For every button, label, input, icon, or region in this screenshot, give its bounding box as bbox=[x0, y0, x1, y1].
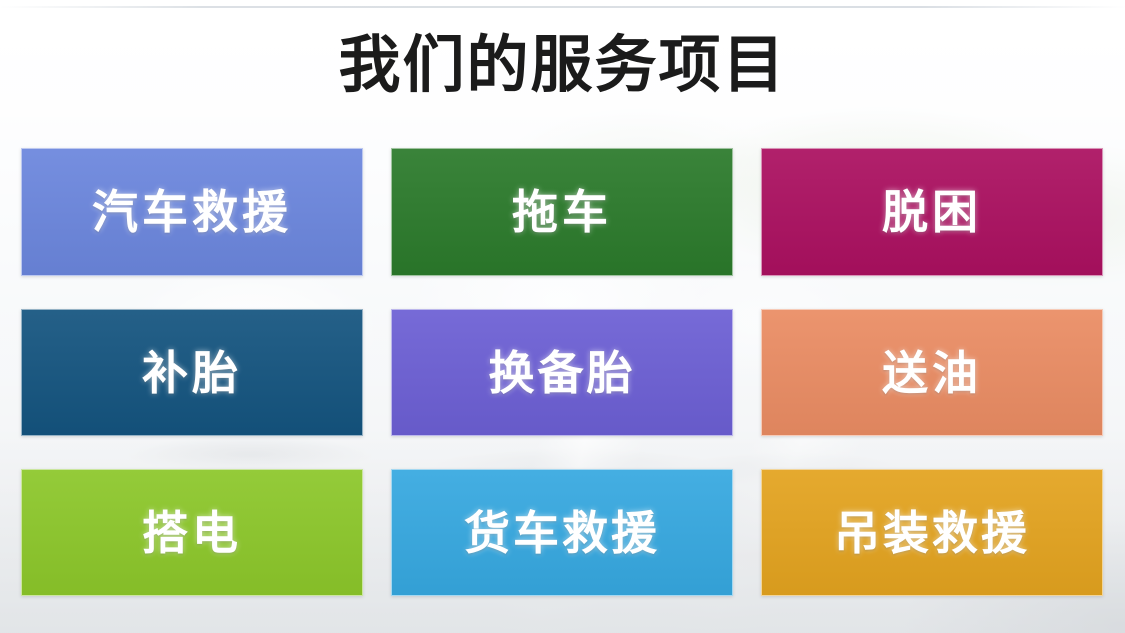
service-tile-label: 换备胎 bbox=[489, 350, 636, 396]
page-title: 我们的服务项目 bbox=[338, 35, 786, 97]
service-tile-label: 补胎 bbox=[142, 350, 242, 396]
service-tile-roadside-assistance[interactable]: 汽车救援 bbox=[21, 148, 363, 276]
background-top-hairline bbox=[0, 6, 1125, 8]
title-bar: 我们的服务项目 bbox=[0, 20, 1125, 112]
service-tile-extraction[interactable]: 脱困 bbox=[761, 148, 1103, 276]
service-tile-label: 吊装救援 bbox=[834, 510, 1030, 556]
service-tile-label: 汽车救援 bbox=[92, 189, 292, 235]
service-tile-truck-rescue[interactable]: 货车救援 bbox=[391, 469, 733, 596]
service-tile-label: 拖车 bbox=[512, 189, 612, 235]
service-tile-label: 脱困 bbox=[882, 189, 982, 235]
service-tile-label: 送油 bbox=[882, 350, 982, 396]
service-tile-towing[interactable]: 拖车 bbox=[391, 148, 733, 276]
service-poster: 我们的服务项目 汽车救援 拖车 脱困 补胎 换备胎 送油 搭电 货车救援 吊装救… bbox=[0, 0, 1125, 633]
service-tile-grid: 汽车救援 拖车 脱困 补胎 换备胎 送油 搭电 货车救援 吊装救援 bbox=[21, 148, 1104, 618]
service-tile-crane-rescue[interactable]: 吊装救援 bbox=[761, 469, 1103, 596]
service-tile-label: 货车救援 bbox=[464, 510, 660, 556]
service-tile-fuel-delivery[interactable]: 送油 bbox=[761, 309, 1103, 436]
service-tile-jump-start[interactable]: 搭电 bbox=[21, 469, 363, 596]
service-tile-label: 搭电 bbox=[142, 510, 242, 556]
service-tile-tire-repair[interactable]: 补胎 bbox=[21, 309, 363, 436]
service-tile-spare-tire-change[interactable]: 换备胎 bbox=[391, 309, 733, 436]
